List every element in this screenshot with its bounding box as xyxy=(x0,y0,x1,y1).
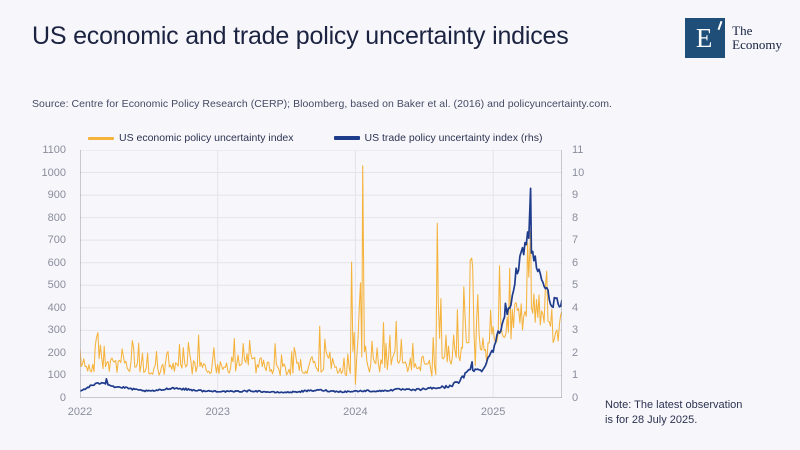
slide-root: US economic and trade policy uncertainty… xyxy=(0,0,800,450)
legend-swatch-trade xyxy=(334,136,360,140)
y-axis-left-tick-1000: 1000 xyxy=(28,167,66,179)
plot-area-wrapper: 0100200300400500600700800900100011000123… xyxy=(28,150,588,428)
y-axis-left-tick-0: 0 xyxy=(28,392,66,404)
note-line-2: is for 28 July 2025. xyxy=(605,413,795,428)
note-line-1: Note: The latest observation xyxy=(605,398,795,413)
chart: US economic policy uncertainty index US … xyxy=(28,128,588,428)
logo-mark: E xyxy=(685,18,725,58)
legend-item-economic: US economic policy uncertainty index xyxy=(88,132,294,144)
y-axis-right-tick-10: 10 xyxy=(572,167,596,179)
legend-item-trade: US trade policy uncertainty index (rhs) xyxy=(334,132,543,144)
y-axis-left-tick-100: 100 xyxy=(28,369,66,381)
y-axis-left-tick-500: 500 xyxy=(28,279,66,291)
x-axis-tick-2024: 2024 xyxy=(343,406,367,418)
y-axis-right-tick-0: 0 xyxy=(572,392,596,404)
chart-svg xyxy=(80,150,562,398)
y-axis-right-tick-1: 1 xyxy=(572,369,596,381)
y-axis-right-tick-9: 9 xyxy=(572,189,596,201)
y-axis-right-tick-2: 2 xyxy=(572,347,596,359)
legend-label-economic: US economic policy uncertainty index xyxy=(119,132,294,144)
y-axis-left-tick-900: 900 xyxy=(28,189,66,201)
series-line-economic xyxy=(80,166,562,384)
y-axis-left-tick-400: 400 xyxy=(28,302,66,314)
y-axis-right-tick-7: 7 xyxy=(572,234,596,246)
x-axis-tick-2025: 2025 xyxy=(481,406,505,418)
y-axis-right-tick-11: 11 xyxy=(572,144,596,156)
chart-legend: US economic policy uncertainty index US … xyxy=(88,130,583,146)
y-axis-left-tick-1100: 1100 xyxy=(28,144,66,156)
y-axis-right-tick-6: 6 xyxy=(572,257,596,269)
logo-wordmark: The Economy xyxy=(732,24,782,52)
page-title: US economic and trade policy uncertainty… xyxy=(32,20,632,52)
legend-label-trade: US trade policy uncertainty index (rhs) xyxy=(365,132,543,144)
y-axis-left-tick-300: 300 xyxy=(28,324,66,336)
legend-swatch-economic xyxy=(88,137,114,140)
x-axis-tick-2022: 2022 xyxy=(68,406,92,418)
logo-accent-icon xyxy=(718,21,723,30)
y-axis-left-tick-800: 800 xyxy=(28,212,66,224)
logo-letter: E xyxy=(696,25,713,52)
y-axis-left-tick-200: 200 xyxy=(28,347,66,359)
y-axis-right-tick-4: 4 xyxy=(572,302,596,314)
y-axis-right-tick-8: 8 xyxy=(572,212,596,224)
y-axis-right-tick-3: 3 xyxy=(572,324,596,336)
y-axis-left-tick-600: 600 xyxy=(28,257,66,269)
y-axis-right-tick-5: 5 xyxy=(572,279,596,291)
y-axis-left-tick-700: 700 xyxy=(28,234,66,246)
x-axis-tick-2023: 2023 xyxy=(205,406,229,418)
source-note: Source: Centre for Economic Policy Resea… xyxy=(32,98,712,110)
logo-wordmark-line1: The xyxy=(732,24,782,38)
latest-observation-note: Note: The latest observation is for 28 J… xyxy=(605,398,795,428)
brand-logo: E The Economy xyxy=(685,18,782,58)
logo-wordmark-line2: Economy xyxy=(732,38,782,52)
plot-area xyxy=(80,150,562,398)
